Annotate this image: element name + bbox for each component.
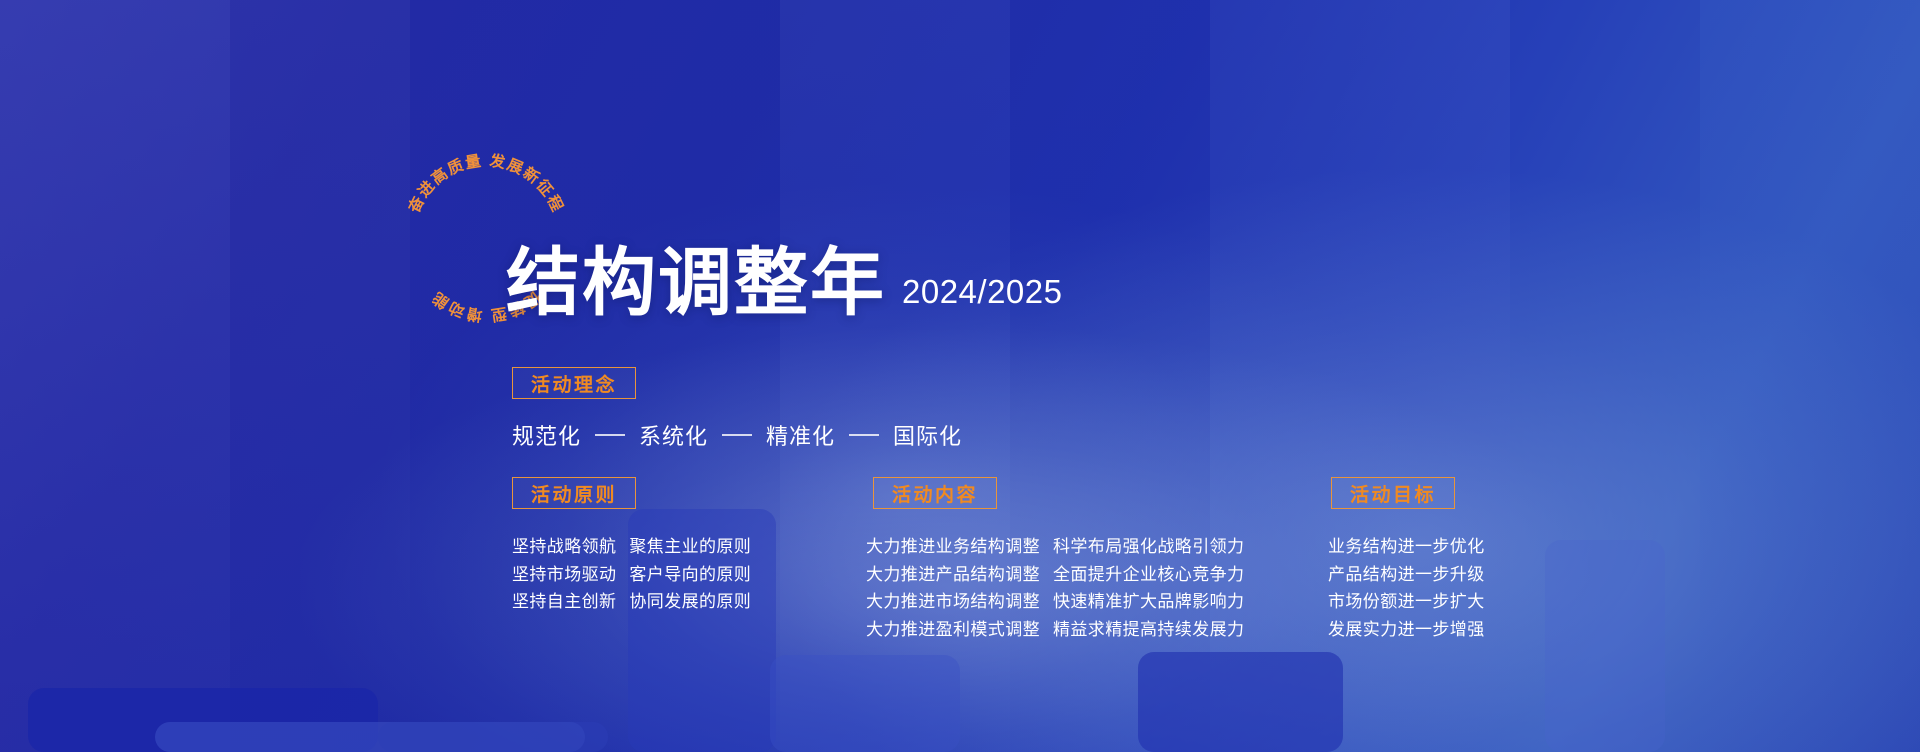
page-title: 结构调整年 <box>506 246 886 320</box>
emblem-top-text: 奋进高质量 发展新征程 <box>404 151 567 217</box>
list-item-right: 快速精准扩大品牌影响力 <box>1053 588 1244 616</box>
activity-goals-list: 业务结构进一步优化 产品结构进一步升级 市场份额进一步扩大 发展实力进一步增强 <box>1328 533 1485 643</box>
list-item-right: 聚焦主业的原则 <box>629 533 751 561</box>
banner-poster: 奋进高质量 发展新征程 促转型 增动能 结构调整年 2024/2025 活动理念… <box>0 0 1920 752</box>
deco-block-5 <box>770 655 960 752</box>
list-item-left: 坚持市场驱动 <box>512 561 616 589</box>
list-item-left: 产品结构进一步升级 <box>1328 561 1485 589</box>
list-item: 大力推进产品结构调整 全面提升企业核心竞争力 <box>866 561 1244 589</box>
badge-activity-content: 活动内容 <box>873 477 997 509</box>
list-item: 坚持市场驱动 客户导向的原则 <box>512 561 751 589</box>
deco-block-1 <box>28 688 378 752</box>
deco-block-7 <box>1545 540 1665 752</box>
list-item: 大力推进业务结构调整 科学布局强化战略引领力 <box>866 533 1244 561</box>
list-item-right: 精益求精提高持续发展力 <box>1053 616 1244 644</box>
deco-block-3 <box>378 722 608 752</box>
bg-band-7 <box>1700 0 1920 752</box>
list-item: 大力推进盈利模式调整 精益求精提高持续发展力 <box>866 616 1244 644</box>
deco-block-6 <box>1138 652 1343 752</box>
list-item: 大力推进市场结构调整 快速精准扩大品牌影响力 <box>866 588 1244 616</box>
badge-activity-concept: 活动理念 <box>512 367 636 399</box>
activity-content-list: 大力推进业务结构调整 科学布局强化战略引领力 大力推进产品结构调整 全面提升企业… <box>866 533 1244 643</box>
concept-item-3: 国际化 <box>893 419 962 451</box>
badge-activity-goals: 活动目标 <box>1331 477 1455 509</box>
list-item: 坚持战略领航 聚焦主业的原则 <box>512 533 751 561</box>
activity-principles-list: 坚持战略领航 聚焦主业的原则 坚持市场驱动 客户导向的原则 坚持自主创新 协同发… <box>512 533 751 616</box>
list-item-left: 市场份额进一步扩大 <box>1328 588 1485 616</box>
list-item: 市场份额进一步扩大 <box>1328 588 1485 616</box>
deco-block-2 <box>155 722 585 752</box>
list-item-left: 坚持战略领航 <box>512 533 616 561</box>
list-item-left: 坚持自主创新 <box>512 588 616 616</box>
concept-item-2: 精准化 <box>766 419 835 451</box>
list-item: 坚持自主创新 协同发展的原则 <box>512 588 751 616</box>
bg-band-1 <box>0 0 230 752</box>
list-item: 产品结构进一步升级 <box>1328 561 1485 589</box>
list-item-left: 业务结构进一步优化 <box>1328 533 1485 561</box>
list-item-left: 大力推进市场结构调整 <box>866 588 1040 616</box>
list-item-right: 客户导向的原则 <box>629 561 751 589</box>
list-item-left: 发展实力进一步增强 <box>1328 616 1485 644</box>
list-item-right: 科学布局强化战略引领力 <box>1053 533 1244 561</box>
list-item: 发展实力进一步增强 <box>1328 616 1485 644</box>
list-item-right: 全面提升企业核心竞争力 <box>1053 561 1244 589</box>
list-item-left: 大力推进盈利模式调整 <box>866 616 1040 644</box>
concept-separator-icon <box>722 434 752 436</box>
concept-item-0: 规范化 <box>512 419 581 451</box>
bg-band-2 <box>230 0 410 752</box>
concept-item-1: 系统化 <box>639 419 708 451</box>
concept-keyword-list: 规范化 系统化 精准化 国际化 <box>512 419 962 451</box>
badge-activity-principles: 活动原则 <box>512 477 636 509</box>
list-item-right: 协同发展的原则 <box>629 588 751 616</box>
headline-years: 2024/2025 <box>902 273 1063 320</box>
list-item-left: 大力推进产品结构调整 <box>866 561 1040 589</box>
concept-separator-icon <box>849 434 879 436</box>
list-item-left: 大力推进业务结构调整 <box>866 533 1040 561</box>
concept-separator-icon <box>595 434 625 436</box>
list-item: 业务结构进一步优化 <box>1328 533 1485 561</box>
headline-row: 结构调整年 2024/2025 <box>506 246 1063 320</box>
